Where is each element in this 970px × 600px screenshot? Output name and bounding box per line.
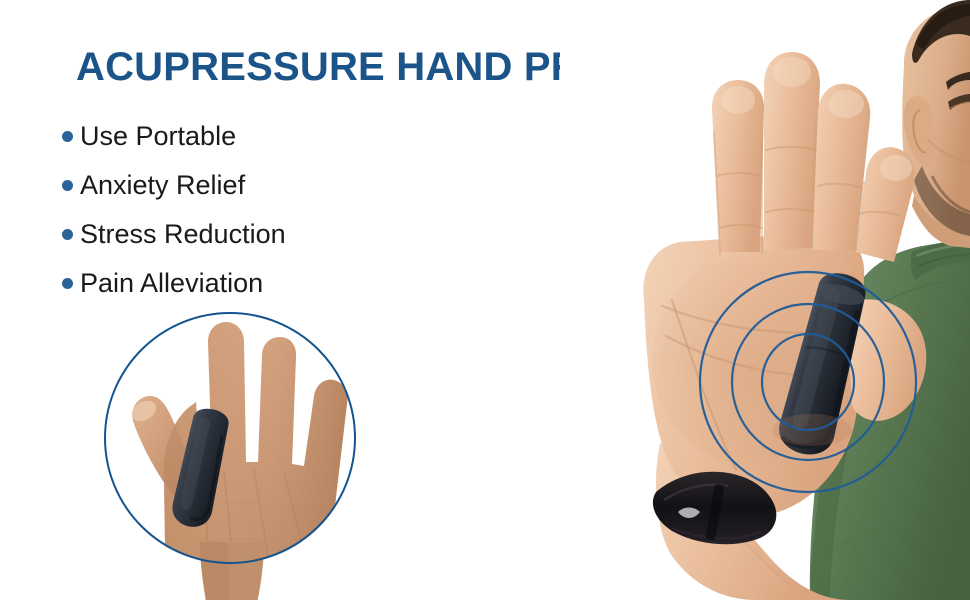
list-item: Use Portable (62, 112, 482, 161)
benefit-label: Pain Alleviation (80, 270, 263, 297)
main-product-photo (560, 0, 970, 600)
list-item: Stress Reduction (62, 210, 482, 259)
benefit-list: Use Portable Anxiety Relief Stress Reduc… (62, 112, 482, 308)
bullet-dot-icon (62, 229, 73, 240)
bullet-dot-icon (62, 180, 73, 191)
list-item: Anxiety Relief (62, 161, 482, 210)
benefit-label: Use Portable (80, 123, 236, 150)
product-banner: ACUPRESSURE HAND PRESSURE Use Portable A… (0, 0, 970, 600)
inset-photo-circle (104, 312, 356, 564)
bullet-dot-icon (62, 131, 73, 142)
man-with-device-illustration (560, 0, 970, 600)
bullet-dot-icon (62, 278, 73, 289)
list-item: Pain Alleviation (62, 259, 482, 308)
inset-wrist-overflow (104, 542, 356, 600)
benefit-label: Anxiety Relief (80, 172, 245, 199)
inset-photo-clip (104, 312, 356, 564)
benefit-label: Stress Reduction (80, 221, 286, 248)
